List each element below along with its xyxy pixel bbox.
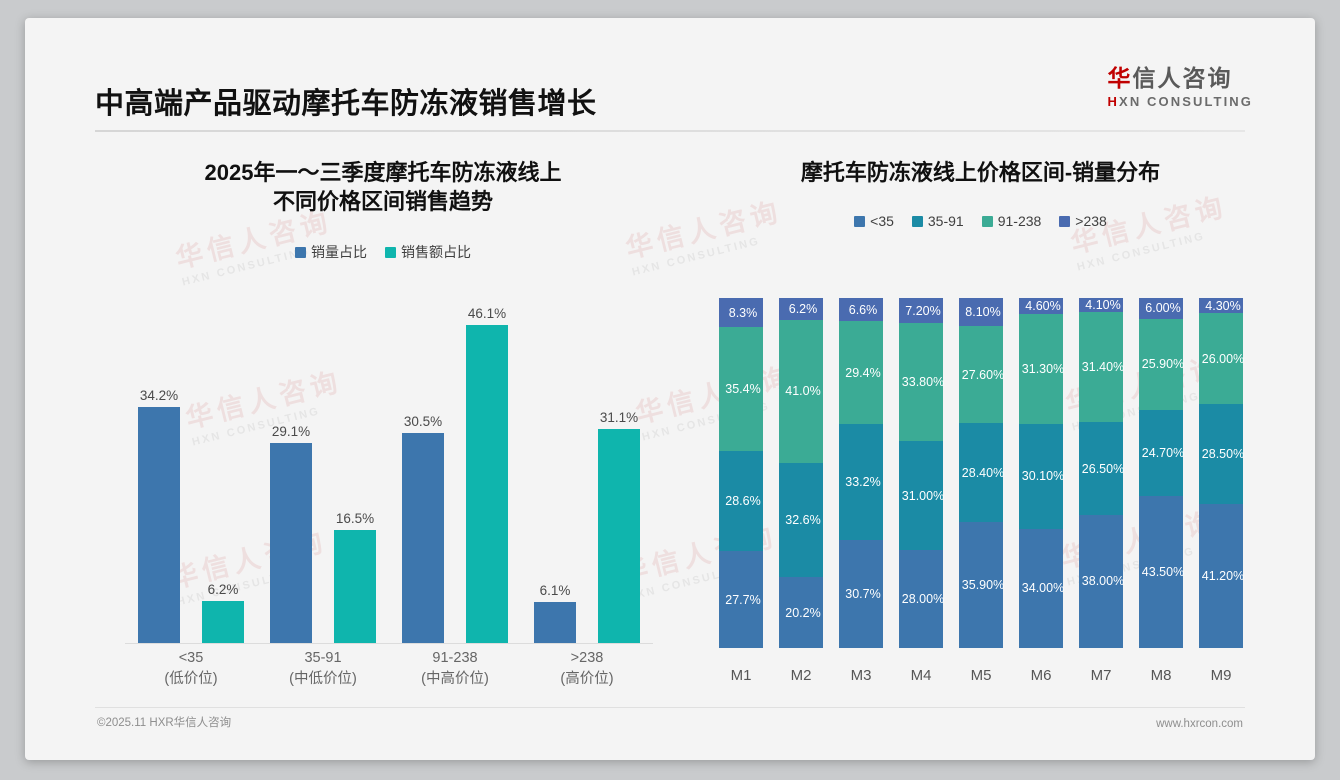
left-chart-legend: 销量占比销售额占比: [73, 242, 693, 262]
segment-value-label: 33.80%: [902, 375, 944, 389]
stacked-bar-segment[interactable]: 28.6%: [719, 451, 763, 551]
x-tick-sublabel: (低价位): [125, 669, 257, 690]
segment-value-label: 38.00%: [1082, 574, 1124, 588]
bar-group: 29.1%16.5%: [257, 298, 389, 644]
stacked-bar-column[interactable]: 6.00%25.90%24.70%43.50%: [1131, 298, 1191, 648]
bar-rect[interactable]: [534, 602, 576, 644]
segment-value-label: 27.7%: [725, 593, 760, 607]
legend-item[interactable]: 35-91: [912, 213, 964, 229]
legend-item[interactable]: 销售额占比: [385, 242, 471, 262]
bar-value-label: 30.5%: [404, 414, 442, 429]
segment-value-label: 26.00%: [1202, 352, 1244, 366]
grouped-bar-chart: 34.2%6.2%29.1%16.5%30.5%46.1%6.1%31.1% <…: [103, 298, 663, 698]
stacked-bar-segment[interactable]: 28.40%: [959, 423, 1003, 522]
stacked-bar-segment[interactable]: 30.7%: [839, 540, 883, 648]
logo-english: HXN CONSULTING: [1108, 94, 1253, 109]
right-chart-title: 摩托车防冻液线上价格区间-销量分布: [693, 146, 1268, 187]
stacked-bar-column[interactable]: 8.10%27.60%28.40%35.90%: [951, 298, 1011, 648]
stacked-bar-segment[interactable]: 35.90%: [959, 522, 1003, 648]
x-tick-label: M1: [711, 667, 771, 684]
x-tick-label: <35(低价位): [125, 648, 257, 692]
stacked-bar-segment[interactable]: 20.2%: [779, 577, 823, 648]
bar-column[interactable]: 31.1%: [598, 298, 640, 644]
x-tick-label: M2: [771, 667, 831, 684]
stacked-bar-segment[interactable]: 35.4%: [719, 327, 763, 451]
bar-column[interactable]: 46.1%: [466, 298, 508, 644]
stacked-bar-segment[interactable]: 6.2%: [779, 298, 823, 320]
stacked-bar-stack: 4.30%26.00%28.50%41.20%: [1199, 298, 1243, 648]
segment-value-label: 26.50%: [1082, 462, 1124, 476]
slide: 中高端产品驱动摩托车防冻液销售增长 华信人咨询 HXN CONSULTING 华…: [25, 18, 1315, 760]
stacked-bar-segment[interactable]: 25.90%: [1139, 319, 1183, 410]
bar-value-label: 34.2%: [140, 388, 178, 403]
segment-value-label: 29.4%: [845, 366, 880, 380]
bar-rect[interactable]: [138, 407, 180, 644]
stacked-bar-stack: 4.10%31.40%26.50%38.00%: [1079, 298, 1123, 648]
stacked-bar-segment[interactable]: 26.00%: [1199, 313, 1243, 404]
bar-rect[interactable]: [270, 443, 312, 644]
right-chart-panel: 摩托车防冻液线上价格区间-销量分布 <3535-9191-238>238 8.3…: [693, 146, 1268, 706]
stacked-bar-segment[interactable]: 8.10%: [959, 298, 1003, 326]
footer-copyright: ©2025.11 HXR华信人咨询: [97, 714, 231, 730]
x-tick-label: 35-91(中低价位): [257, 648, 389, 692]
x-tick-label: M6: [1011, 667, 1071, 684]
segment-value-label: 35.4%: [725, 382, 760, 396]
stacked-bar-segment[interactable]: 7.20%: [899, 298, 943, 323]
stacked-bar-segment[interactable]: 4.10%: [1079, 298, 1123, 312]
logo-chinese: 华信人咨询: [1108, 66, 1253, 91]
x-tick-label: M4: [891, 667, 951, 684]
left-chart-title-line-2: 不同价格区间销售趋势: [73, 187, 693, 216]
stacked-bar-segment[interactable]: 8.3%: [719, 298, 763, 327]
stacked-bar-segment[interactable]: 33.2%: [839, 424, 883, 540]
legend-label: 35-91: [928, 213, 964, 229]
bar-value-label: 6.1%: [540, 583, 571, 598]
stacked-bar-column[interactable]: 6.2%41.0%32.6%20.2%: [771, 298, 831, 648]
segment-value-label: 8.3%: [729, 306, 758, 320]
segment-value-label: 41.0%: [785, 384, 820, 398]
stacked-bar-stack: 8.10%27.60%28.40%35.90%: [959, 298, 1003, 648]
segment-value-label: 28.00%: [902, 592, 944, 606]
segment-value-label: 4.60%: [1025, 299, 1060, 313]
segment-value-label: 4.10%: [1085, 298, 1120, 312]
stacked-bar-stack: 4.60%31.30%30.10%34.00%: [1019, 298, 1063, 648]
stacked-bar-column[interactable]: 4.10%31.40%26.50%38.00%: [1071, 298, 1131, 648]
x-tick-range: 91-238: [432, 650, 477, 666]
stacked-bar-segment[interactable]: 27.7%: [719, 551, 763, 648]
legend-item[interactable]: >238: [1059, 213, 1107, 229]
segment-value-label: 31.40%: [1082, 360, 1124, 374]
legend-swatch-icon: [295, 247, 306, 258]
left-chart-title-line-1: 2025年一～三季度摩托车防冻液线上: [73, 158, 693, 187]
bar-column[interactable]: 34.2%: [138, 298, 180, 644]
logo-chinese-accent: 华: [1108, 65, 1133, 91]
x-tick-label: M8: [1131, 667, 1191, 684]
stacked-bar-segment[interactable]: 6.00%: [1139, 298, 1183, 319]
stacked-bar-segment[interactable]: 28.50%: [1199, 404, 1243, 504]
segment-value-label: 27.60%: [962, 368, 1004, 382]
segment-value-label: 41.20%: [1202, 569, 1244, 583]
right-chart-title-line-1: 摩托车防冻液线上价格区间-销量分布: [693, 158, 1268, 187]
x-tick-sublabel: (中高价位): [389, 669, 521, 690]
x-axis-line: [125, 643, 653, 644]
bar-column[interactable]: 16.5%: [334, 298, 376, 644]
legend-item[interactable]: 91-238: [982, 213, 1042, 229]
stacked-bar-x-ticks: M1M2M3M4M5M6M7M8M9: [711, 667, 1251, 684]
bar-column[interactable]: 29.1%: [270, 298, 312, 644]
segment-value-label: 28.50%: [1202, 447, 1244, 461]
bar-value-label: 46.1%: [468, 306, 506, 321]
stacked-bar-segment[interactable]: 4.60%: [1019, 298, 1063, 314]
stacked-bar-segment[interactable]: 31.30%: [1019, 314, 1063, 424]
stacked-bar-plot: 8.3%35.4%28.6%27.7%6.2%41.0%32.6%20.2%6.…: [711, 298, 1251, 648]
stacked-bar-segment[interactable]: 38.00%: [1079, 515, 1123, 648]
stacked-bar-stack: 7.20%33.80%31.00%28.00%: [899, 298, 943, 648]
bar-value-label: 29.1%: [272, 424, 310, 439]
grouped-bar-x-ticks: <35(低价位)35-91(中低价位)91-238(中高价位)>238(高价位): [125, 648, 653, 692]
legend-label: <35: [870, 213, 894, 229]
stacked-bar-column[interactable]: 7.20%33.80%31.00%28.00%: [891, 298, 951, 648]
legend-label: 销售额占比: [401, 242, 471, 262]
stacked-bar-segment[interactable]: 41.20%: [1199, 504, 1243, 648]
segment-value-label: 28.6%: [725, 494, 760, 508]
segment-value-label: 32.6%: [785, 513, 820, 527]
stacked-bar-segment[interactable]: 24.70%: [1139, 410, 1183, 496]
x-tick-label: M3: [831, 667, 891, 684]
bar-value-label: 16.5%: [336, 511, 374, 526]
stacked-bar-segment[interactable]: 29.4%: [839, 321, 883, 424]
right-chart-legend: <3535-9191-238>238: [693, 213, 1268, 229]
footer-divider: [95, 707, 1245, 708]
segment-value-label: 4.30%: [1205, 299, 1240, 313]
segment-value-label: 6.00%: [1145, 301, 1180, 315]
x-tick-label: M9: [1191, 667, 1251, 684]
stacked-bar-stack: 6.00%25.90%24.70%43.50%: [1139, 298, 1183, 648]
x-tick-range: 35-91: [304, 650, 341, 666]
stacked-bar-column[interactable]: 4.60%31.30%30.10%34.00%: [1011, 298, 1071, 648]
stacked-bar-segment[interactable]: 43.50%: [1139, 496, 1183, 648]
grouped-bar-groups: 34.2%6.2%29.1%16.5%30.5%46.1%6.1%31.1%: [125, 298, 653, 644]
segment-value-label: 43.50%: [1142, 565, 1184, 579]
legend-swatch-icon: [912, 216, 923, 227]
segment-value-label: 28.40%: [962, 466, 1004, 480]
legend-label: 销量占比: [311, 242, 367, 262]
legend-swatch-icon: [982, 216, 993, 227]
stacked-bar-chart: 8.3%35.4%28.6%27.7%6.2%41.0%32.6%20.2%6.…: [701, 298, 1261, 698]
legend-swatch-icon: [385, 247, 396, 258]
bar-group: 6.1%31.1%: [521, 298, 653, 644]
stacked-bar-segment[interactable]: 41.0%: [779, 320, 823, 464]
stacked-bar-segment[interactable]: 6.6%: [839, 298, 883, 321]
grouped-bar-plot: 34.2%6.2%29.1%16.5%30.5%46.1%6.1%31.1%: [125, 298, 653, 644]
stacked-bar-segment[interactable]: 4.30%: [1199, 298, 1243, 313]
footer-website[interactable]: www.hxrcon.com: [1156, 718, 1243, 730]
bar-rect[interactable]: [466, 325, 508, 644]
bar-value-label: 6.2%: [208, 582, 239, 597]
bar-rect[interactable]: [402, 433, 444, 644]
stacked-bar-stack: 8.3%35.4%28.6%27.7%: [719, 298, 763, 648]
x-tick-sublabel: (高价位): [521, 669, 653, 690]
bar-rect[interactable]: [202, 601, 244, 644]
segment-value-label: 25.90%: [1142, 357, 1184, 371]
logo-english-rest: XN CONSULTING: [1119, 94, 1253, 109]
legend-item[interactable]: 销量占比: [295, 242, 367, 262]
bar-rect[interactable]: [334, 530, 376, 644]
left-chart-panel: 2025年一～三季度摩托车防冻液线上 不同价格区间销售趋势 销量占比销售额占比 …: [73, 146, 693, 706]
legend-swatch-icon: [1059, 216, 1070, 227]
segment-value-label: 35.90%: [962, 578, 1004, 592]
segment-value-label: 34.00%: [1022, 581, 1064, 595]
stacked-bar-segment[interactable]: 27.60%: [959, 326, 1003, 423]
company-logo: 华信人咨询 HXN CONSULTING: [1108, 66, 1253, 109]
logo-english-accent: H: [1108, 94, 1120, 109]
stacked-bar-stack: 6.2%41.0%32.6%20.2%: [779, 298, 823, 648]
legend-label: 91-238: [998, 213, 1042, 229]
logo-chinese-rest: 信人咨询: [1133, 65, 1233, 91]
segment-value-label: 33.2%: [845, 475, 880, 489]
segment-value-label: 31.00%: [902, 489, 944, 503]
stacked-bar-segment[interactable]: 31.40%: [1079, 312, 1123, 422]
bar-group: 34.2%6.2%: [125, 298, 257, 644]
slide-header: 中高端产品驱动摩托车防冻液销售增长 华信人咨询 HXN CONSULTING: [25, 18, 1315, 130]
bar-column[interactable]: 6.2%: [202, 298, 244, 644]
stacked-bar-column[interactable]: 4.30%26.00%28.50%41.20%: [1191, 298, 1251, 648]
stacked-bar-segment[interactable]: 31.00%: [899, 441, 943, 550]
header-divider: [95, 130, 1245, 132]
stacked-bar-segment[interactable]: 33.80%: [899, 323, 943, 441]
segment-value-label: 30.7%: [845, 587, 880, 601]
segment-value-label: 7.20%: [905, 304, 940, 318]
left-chart-title: 2025年一～三季度摩托车防冻液线上 不同价格区间销售趋势: [73, 146, 693, 216]
stacked-bar-column[interactable]: 8.3%35.4%28.6%27.7%: [711, 298, 771, 648]
x-tick-label: M5: [951, 667, 1011, 684]
segment-value-label: 20.2%: [785, 606, 820, 620]
stacked-bar-stack: 6.6%29.4%33.2%30.7%: [839, 298, 883, 648]
bar-value-label: 31.1%: [600, 410, 638, 425]
segment-value-label: 24.70%: [1142, 446, 1184, 460]
segment-value-label: 8.10%: [965, 305, 1000, 319]
stacked-bar-segment[interactable]: 28.00%: [899, 550, 943, 648]
x-tick-range: >238: [571, 650, 604, 666]
legend-item[interactable]: <35: [854, 213, 894, 229]
stacked-bar-segment[interactable]: 32.6%: [779, 463, 823, 577]
x-tick-label: >238(高价位): [521, 648, 653, 692]
legend-swatch-icon: [854, 216, 865, 227]
segment-value-label: 30.10%: [1022, 469, 1064, 483]
stacked-bar-column[interactable]: 6.6%29.4%33.2%30.7%: [831, 298, 891, 648]
legend-label: >238: [1075, 213, 1107, 229]
stacked-bar-segment[interactable]: 26.50%: [1079, 422, 1123, 515]
stacked-bar-segment[interactable]: 34.00%: [1019, 529, 1063, 648]
page-title: 中高端产品驱动摩托车防冻液销售增长: [95, 80, 597, 122]
bar-column[interactable]: 6.1%: [534, 298, 576, 644]
stacked-bar-segment[interactable]: 30.10%: [1019, 424, 1063, 529]
segment-value-label: 6.6%: [849, 303, 878, 317]
segment-value-label: 31.30%: [1022, 362, 1064, 376]
x-tick-sublabel: (中低价位): [257, 669, 389, 690]
bar-group: 30.5%46.1%: [389, 298, 521, 644]
bar-column[interactable]: 30.5%: [402, 298, 444, 644]
segment-value-label: 6.2%: [789, 302, 818, 316]
x-tick-range: <35: [179, 650, 204, 666]
x-tick-label: M7: [1071, 667, 1131, 684]
bar-rect[interactable]: [598, 429, 640, 644]
x-tick-label: 91-238(中高价位): [389, 648, 521, 692]
